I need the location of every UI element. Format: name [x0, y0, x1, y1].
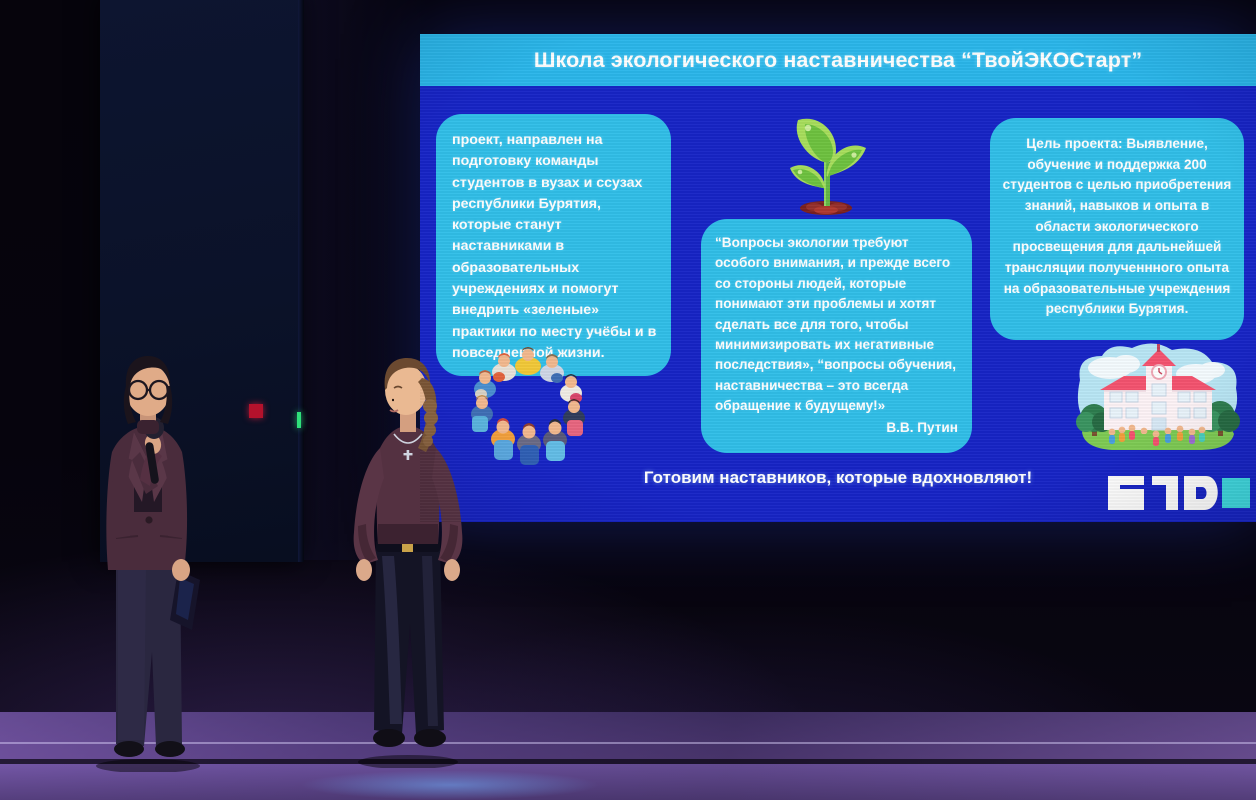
students-circle-icon — [452, 344, 604, 472]
slide-title: Школа экологического наставничества “Тво… — [420, 34, 1256, 86]
projection-screen: Школа экологического наставничества “Тво… — [420, 34, 1256, 522]
putin-quote-attribution: В.В. Путин — [715, 418, 958, 438]
project-goal-card: Цель проекта: Выявление, обучение и подд… — [990, 118, 1244, 340]
sprout-icon — [762, 100, 890, 220]
stage-scene: Школа экологического наставничества “Тво… — [0, 0, 1256, 800]
project-goal-text: Цель проекта: Выявление, обучение и подд… — [1003, 136, 1232, 316]
school-building-icon — [1068, 340, 1248, 460]
green-led-indicator — [297, 412, 301, 428]
putin-quote-text: “Вопросы экологии требуют особого вниман… — [715, 235, 956, 413]
speaker-with-microphone — [82, 352, 214, 772]
red-led-indicator — [249, 404, 263, 418]
stage-set-panel-edge — [298, 0, 304, 562]
project-description-text: проект, направлен на подготовку команды … — [452, 132, 656, 361]
stage-floor-glow — [300, 770, 600, 800]
project-description-card: проект, направлен на подготовку команды … — [436, 114, 671, 376]
putin-quote-card: “Вопросы экологии требуют особого вниман… — [701, 219, 972, 453]
presenter-standing — [344, 356, 472, 768]
bgu-logo — [1106, 472, 1250, 514]
